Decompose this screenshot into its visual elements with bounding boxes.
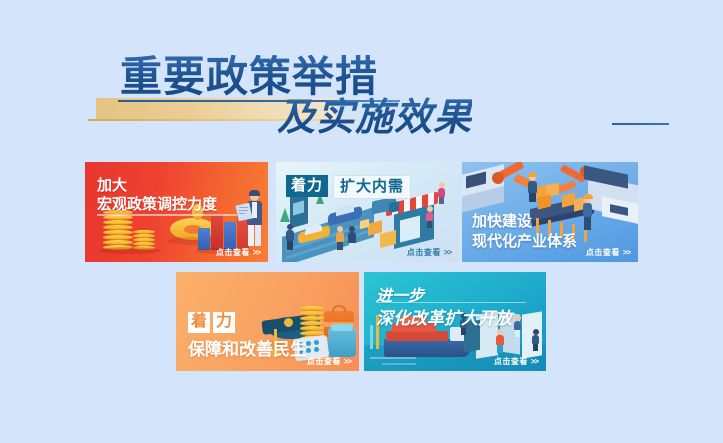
card-5-title-line-2: 深化改革扩大开放 (376, 304, 512, 329)
person-legs (461, 328, 466, 335)
person-legs (427, 221, 432, 228)
pill-6 (314, 347, 319, 352)
card-1-cta-label: 点击查看 (216, 248, 250, 257)
person-legs (529, 193, 536, 202)
card-2-title-badge: 着力 (286, 175, 328, 197)
card-5-title-rule (376, 302, 526, 303)
person-legs (533, 344, 538, 351)
medical-bag-handle (332, 305, 346, 313)
card-4-cta-label: 点击查看 (307, 357, 341, 366)
card-1-title-rule (97, 214, 237, 216)
card-expand-domestic-demand[interactable]: 着力 扩大内需 点击查看 >> (276, 162, 459, 262)
card-3-title-line-1: 加快建设 (472, 210, 532, 231)
card-5-cta-label: 点击查看 (494, 357, 528, 366)
card-4-title-line-2: 保障和改善民生 (188, 335, 307, 360)
card-2-cta-label: 点击查看 (407, 248, 441, 257)
port-worker-2 (494, 329, 506, 353)
title-right-rule (612, 123, 669, 125)
card-modern-industrial-system[interactable]: 加快建设 现代化产业体系 点击查看 >> (462, 162, 638, 262)
cargo-ship-hull (384, 339, 470, 357)
card-2-title-main: 扩大内需 (333, 175, 411, 199)
card-1-title-line-2: 宏观政策调控力度 (97, 193, 217, 214)
cargo-containers-row-1 (386, 331, 448, 341)
card-5-cta-arrow-icon: >> (531, 357, 538, 366)
card-4-badge-char-1: 着 (188, 312, 210, 333)
person-torso (426, 212, 433, 221)
person-torso (583, 203, 592, 217)
robot-arm-orange-joint (492, 172, 504, 184)
worker-helmet (583, 194, 593, 199)
port-crane-support (370, 325, 373, 349)
card-3-cta-label: 点击查看 (586, 248, 620, 257)
card-macro-policy-regulation[interactable]: 加大 宏观政策调控力度 点击查看 >> (85, 162, 268, 262)
shopper-figure-3 (346, 226, 358, 252)
person-hair (249, 190, 260, 196)
card-2-cta-arrow-icon: >> (444, 248, 451, 257)
medicine-jar-cap (331, 324, 353, 331)
port-worker-3 (512, 315, 523, 337)
person-torso (514, 321, 521, 330)
water-line-2 (382, 363, 416, 365)
person-legs (337, 242, 343, 250)
card-deepen-reform-opening-up[interactable]: 进一步 深化改革扩大开放 点击查看 >> (364, 272, 546, 371)
person-torso (348, 232, 356, 243)
shopper-figure-1 (284, 224, 296, 250)
person-legs (515, 330, 520, 337)
card-3-cta-link[interactable]: 点击查看 >> (586, 247, 630, 258)
person-legs (584, 217, 591, 230)
person-torso (496, 335, 504, 345)
document-line-3 (239, 213, 245, 214)
person-torso (528, 181, 537, 193)
coin-shadow (99, 247, 161, 254)
card-1-cta-arrow-icon: >> (253, 248, 260, 257)
card-4-badge-char-2: 力 (213, 312, 235, 333)
bar-chart-bar-2 (211, 214, 223, 250)
card-4-title-badge: 着 力 (188, 312, 235, 333)
card-2-cta-link[interactable]: 点击查看 >> (407, 247, 451, 258)
coin-stack-large-icon (103, 210, 133, 250)
shopper-figure-4 (424, 206, 435, 228)
bar-chart-bar-1 (198, 228, 210, 250)
person-torso (336, 232, 344, 242)
person-legs (287, 241, 293, 250)
graduation-cap-button (284, 318, 293, 327)
page-title-block: 重要政策举措 及实施效果 (0, 55, 723, 150)
person-torso (532, 335, 539, 344)
document-line-2 (239, 210, 248, 211)
shopper-figure-2 (334, 226, 346, 250)
person-legs (497, 345, 503, 353)
pill-3 (314, 340, 319, 345)
person-leg-left (248, 225, 254, 246)
worker-figure-1 (526, 174, 539, 202)
card-safeguard-improve-livelihood[interactable]: 着 力 保障和改善民生 点击查看 >> (176, 272, 359, 371)
card-3-title-line-2: 现代化产业体系 (472, 230, 577, 251)
port-worker-4 (530, 329, 541, 351)
card-4-cta-arrow-icon: >> (344, 357, 351, 366)
medicine-jar-body (328, 327, 356, 357)
bar-chart-bar-3 (224, 222, 236, 250)
worker-helmet (528, 172, 537, 177)
person-document (235, 203, 252, 222)
tree-icon-1 (280, 208, 290, 222)
card-1-cta-link[interactable]: 点击查看 >> (216, 247, 260, 258)
person-torso (438, 188, 445, 197)
document-line-1 (239, 207, 248, 208)
card-3-cta-arrow-icon: >> (623, 248, 630, 257)
card-4-cta-link[interactable]: 点击查看 >> (307, 356, 351, 367)
worker-figure-2 (580, 196, 594, 230)
card-1-title-line-1: 加大 (97, 174, 127, 195)
shopper-figure-5 (436, 182, 447, 204)
person-legs (439, 197, 444, 204)
water-line-1 (370, 357, 416, 359)
page-title-line-1: 重要政策举措 (120, 55, 378, 99)
person-leg-right (255, 225, 261, 246)
businessman-figure (243, 192, 267, 250)
person-torso (286, 230, 294, 241)
card-5-cta-link[interactable]: 点击查看 >> (494, 356, 538, 367)
page-title-line-2: 及实施效果 (277, 97, 472, 137)
person-legs (349, 243, 355, 252)
person-shirt (252, 202, 257, 218)
